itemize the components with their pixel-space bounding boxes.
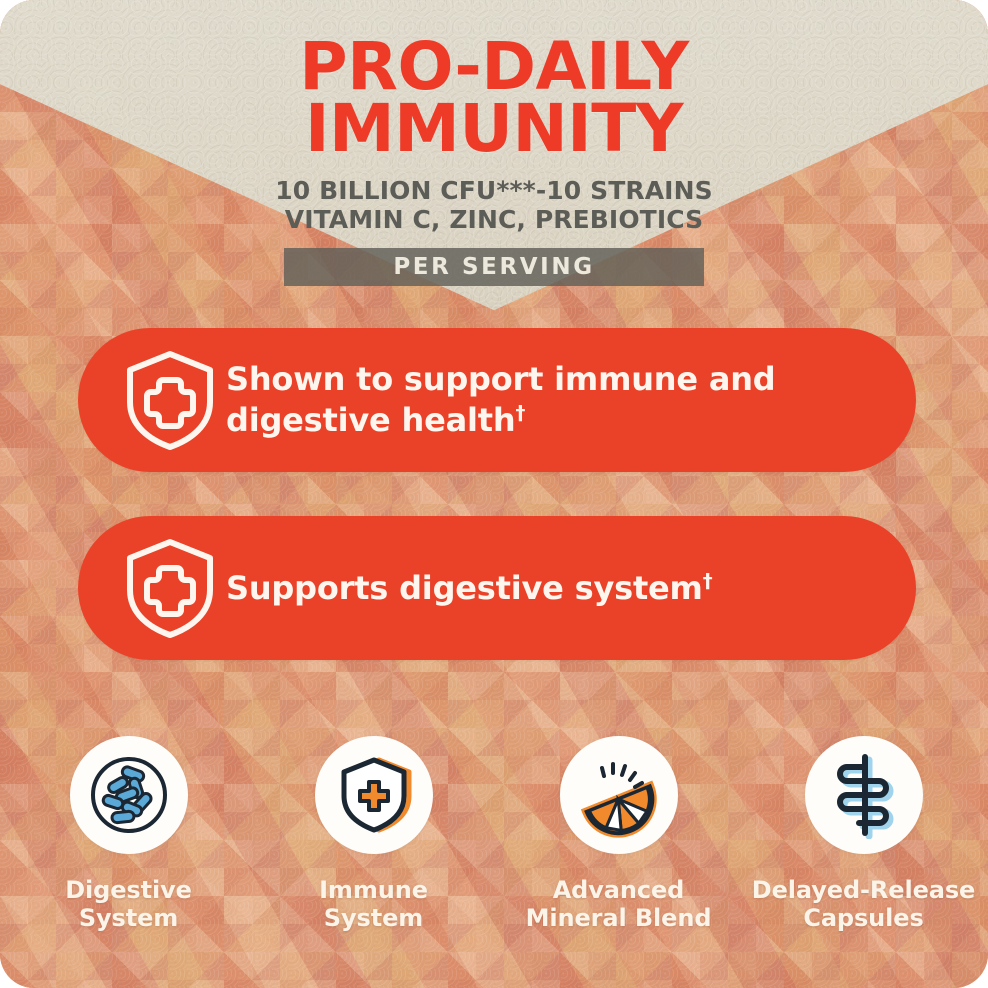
dagger-symbol-1: † [515,401,525,424]
subtitle-line-2: VITAMIN C, ZINC, PREBIOTICS [0,205,988,234]
product-info-card: PRO-DAILY IMMUNITY 10 BILLION CFU***-10 … [0,0,988,988]
feature-label-advanced-mineral-blend: Advanced Mineral Blend [526,876,712,933]
feature-delayed-release-capsules: Delayed-Release Capsules [741,736,986,933]
feature-label-delayed-release-capsules: Delayed-Release Capsules [752,876,975,933]
product-subtitle: 10 BILLION CFU***-10 STRAINS VITAMIN C, … [0,176,988,234]
header-block: PRO-DAILY IMMUNITY 10 BILLION CFU***-10 … [0,36,988,286]
shield-plus-icon [114,348,226,452]
per-serving-bar: PER SERVING [284,248,704,286]
benefit-banner-1-text: Shown to support immune and digestive he… [226,359,816,441]
per-serving-label: PER SERVING [393,254,594,280]
product-title-line-1: PRO-DAILY [0,36,988,98]
orange-slice-icon [560,736,678,854]
benefit-2-line-1: Supports digestive system [226,569,703,607]
benefit-1-line-1: Shown to support immune and [226,359,776,400]
feature-digestive-system: Digestive System [6,736,251,933]
benefit-1-line-2: digestive health [226,401,515,439]
benefit-banner-1: Shown to support immune and digestive he… [78,328,916,472]
shield-cross-icon [315,736,433,854]
benefit-banner-2-text: Supports digestive system† [226,568,752,609]
feature-label-immune-system: Immune System [319,876,428,933]
shield-plus-icon [114,536,226,640]
bacteria-petri-dish-icon [70,736,188,854]
dagger-symbol-2: † [703,569,713,592]
subtitle-line-1: 10 BILLION CFU***-10 STRAINS [0,176,988,205]
product-title-line-2: IMMUNITY [0,98,988,160]
feature-icon-row: Digestive System Immune System [0,736,988,933]
benefit-1-line-2-wrap: digestive health† [226,400,776,441]
feature-advanced-mineral-blend: Advanced Mineral Blend [496,736,741,933]
benefit-banner-2: Supports digestive system† [78,516,916,660]
intestine-capsule-icon [805,736,923,854]
feature-immune-system: Immune System [251,736,496,933]
feature-label-digestive-system: Digestive System [65,876,192,933]
